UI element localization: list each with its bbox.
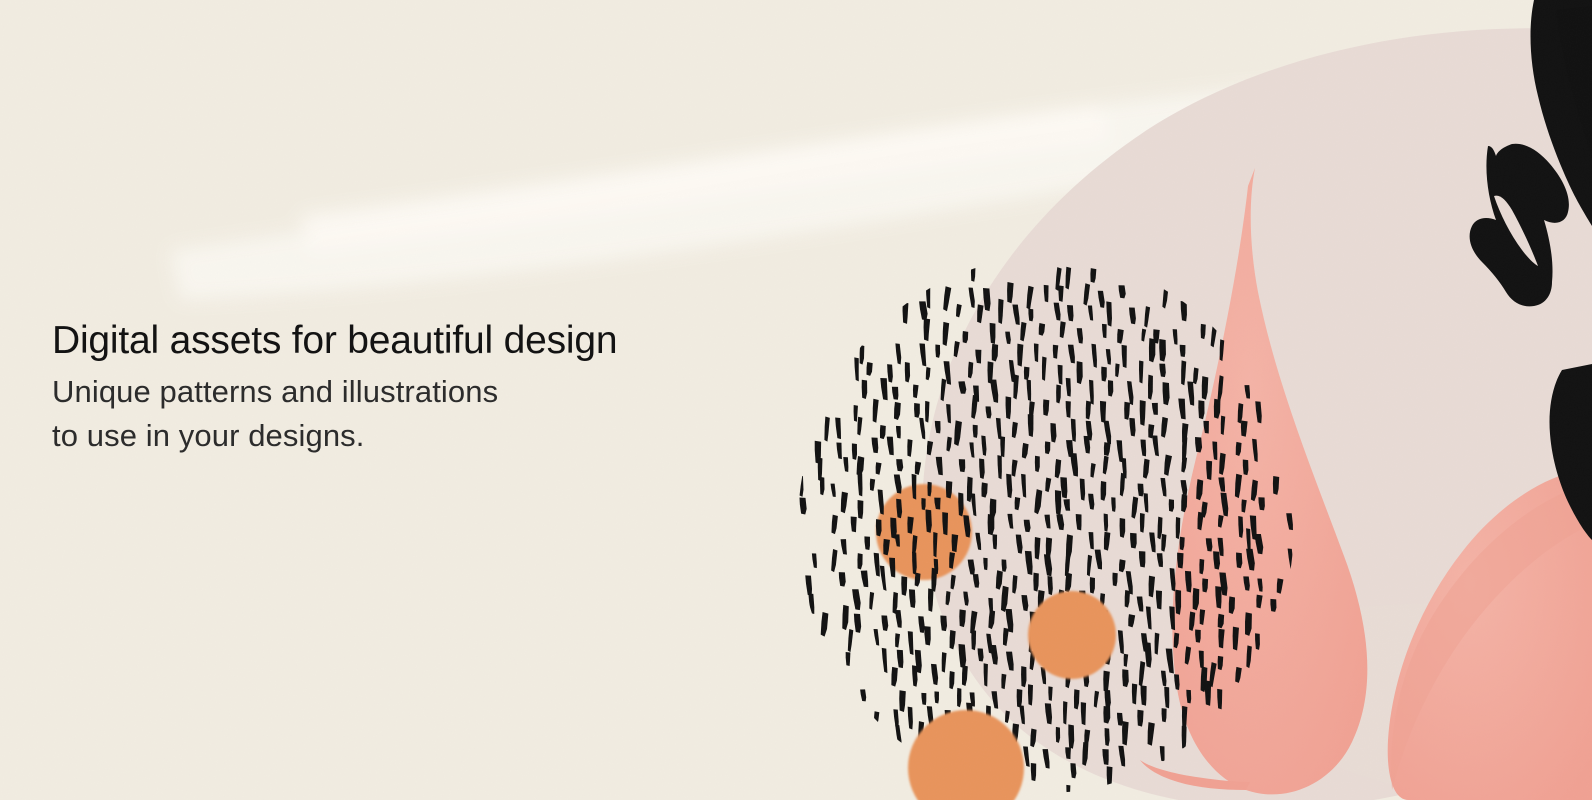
page-subtitle: Unique patterns and illustrations to use… — [52, 370, 617, 458]
subtitle-line-1: Unique patterns and illustrations — [52, 370, 617, 414]
page-title: Digital assets for beautiful design — [52, 318, 617, 364]
hero-banner: Digital assets for beautiful design Uniq… — [0, 0, 1592, 800]
hero-text-block: Digital assets for beautiful design Uniq… — [52, 318, 617, 458]
subtitle-line-2: to use in your designs. — [52, 414, 617, 458]
